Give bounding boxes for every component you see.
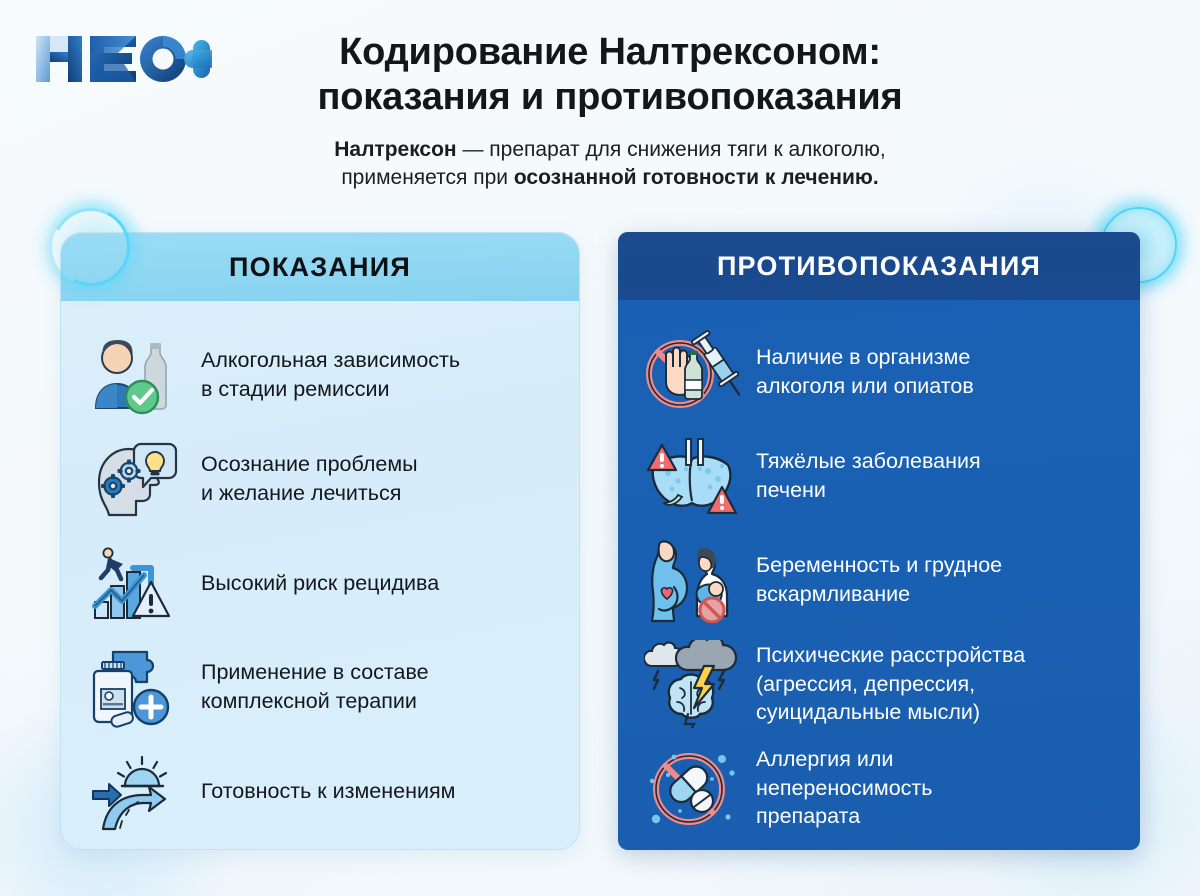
subtitle-line-1-rest: — препарат для снижения тяги к алкоголю, <box>457 138 886 161</box>
list-item-text: Осознание проблемы и желание лечиться <box>201 450 418 507</box>
storm-cloud-brain-icon <box>644 638 740 730</box>
list-item: Готовность к изменениям <box>87 739 553 843</box>
liver-warning-icon <box>644 430 740 522</box>
pregnancy-breastfeeding-ban-icon <box>644 534 740 626</box>
no-pills-allergy-icon <box>644 742 740 834</box>
list-item-text: Наличие в организме алкоголя или опиатов <box>756 343 974 400</box>
list-item-line: в стадии ремиссии <box>201 375 460 404</box>
list-item: Высокий риск рецидива <box>87 531 553 635</box>
list-item: Осознание проблемы и желание лечиться <box>87 427 553 531</box>
list-item-line: непереносимость <box>756 774 932 803</box>
list-item: Тяжёлые заболевания печени <box>644 424 1118 528</box>
list-item-line: комплексной терапии <box>201 687 429 716</box>
list-item-text: Высокий риск рецидива <box>201 569 439 598</box>
list-item: Наличие в организме алкоголя или опиатов <box>644 320 1118 424</box>
list-item: Алкогольная зависимость в стадии ремисси… <box>87 323 553 427</box>
list-item-line: (агрессия, депрессия, <box>756 670 1025 699</box>
card-indications-list: Алкогольная зависимость в стадии ремисси… <box>61 301 579 843</box>
head-gears-lightbulb-icon <box>87 433 183 525</box>
list-item-line: Готовность к изменениям <box>201 777 455 806</box>
list-item-line: Психические расстройства <box>756 641 1025 670</box>
page-subtitle-line-2: применяется при осознанной готовности к … <box>215 164 1005 192</box>
person-bottle-check-icon <box>87 329 183 421</box>
list-item-text: Аллергия или непереносимость препарата <box>756 745 932 831</box>
list-item-text: Психические расстройства (агрессия, депр… <box>756 641 1025 727</box>
sunrise-road-arrow-icon <box>87 745 183 837</box>
list-item: Беременность и грудное вскармливание <box>644 528 1118 632</box>
list-item-line: Беременность и грудное <box>756 551 1002 580</box>
rising-chart-warning-icon <box>87 537 183 629</box>
no-alcohol-syringe-icon <box>644 326 740 418</box>
list-item-text: Алкогольная зависимость в стадии ремисси… <box>201 346 460 403</box>
list-item-line: Аллергия или <box>756 745 932 774</box>
list-item-line: Тяжёлые заболевания <box>756 447 981 476</box>
card-contraindications: ПРОТИВОПОКАЗАНИЯ <box>618 232 1140 850</box>
list-item-text: Тяжёлые заболевания печени <box>756 447 981 504</box>
card-indications-header: ПОКАЗАНИЯ <box>61 233 579 301</box>
list-item-line: печени <box>756 476 981 505</box>
list-item-line: Высокий риск рецидива <box>201 569 439 598</box>
list-item: Аллергия или непереносимость препарата <box>644 736 1118 840</box>
brand-logo: HEO+ <box>32 28 212 90</box>
list-item-line: суицидальные мысли) <box>756 698 1025 727</box>
list-item-line: Наличие в организме <box>756 343 974 372</box>
list-item-text: Готовность к изменениям <box>201 777 455 806</box>
page-subtitle: Налтрексон — препарат для снижения тяги … <box>215 136 1005 192</box>
list-item-line: вскармливание <box>756 580 1002 609</box>
list-item-line: Осознание проблемы <box>201 450 418 479</box>
subtitle-drug-name: Налтрексон <box>334 138 456 161</box>
list-item-text: Применение в составе комплексной терапии <box>201 658 429 715</box>
page-title-line-2: показания и противопоказания <box>215 75 1005 120</box>
list-item-line: и желание лечиться <box>201 479 418 508</box>
list-item-line: Алкогольная зависимость <box>201 346 460 375</box>
page-subtitle-line-1: Налтрексон — препарат для снижения тяги … <box>215 136 1005 164</box>
card-contraindications-header: ПРОТИВОПОКАЗАНИЯ <box>618 232 1140 300</box>
card-indications: ПОКАЗАНИЯ <box>60 232 580 850</box>
card-contraindications-list: Наличие в организме алкоголя или опиатов <box>618 300 1140 840</box>
list-item: Применение в составе комплексной терапии <box>87 635 553 739</box>
pill-bottle-puzzle-plus-icon <box>87 641 183 733</box>
list-item-line: алкоголя или опиатов <box>756 372 974 401</box>
page-title-line-1: Кодирование Налтрексоном: <box>215 30 1005 75</box>
page-header: Кодирование Налтрексоном: показания и пр… <box>215 30 1005 192</box>
list-item-text: Беременность и грудное вскармливание <box>756 551 1002 608</box>
list-item: Психические расстройства (агрессия, депр… <box>644 632 1118 736</box>
page-title: Кодирование Налтрексоном: показания и пр… <box>215 30 1005 120</box>
subtitle-line-2-rest: применяется при <box>341 166 514 189</box>
card-contraindications-title: ПРОТИВОПОКАЗАНИЯ <box>717 251 1041 282</box>
card-indications-title: ПОКАЗАНИЯ <box>229 252 411 283</box>
subtitle-emphasis: осознанной готовности к лечению. <box>514 166 879 189</box>
list-item-line: Применение в составе <box>201 658 429 687</box>
list-item-line: препарата <box>756 802 932 831</box>
